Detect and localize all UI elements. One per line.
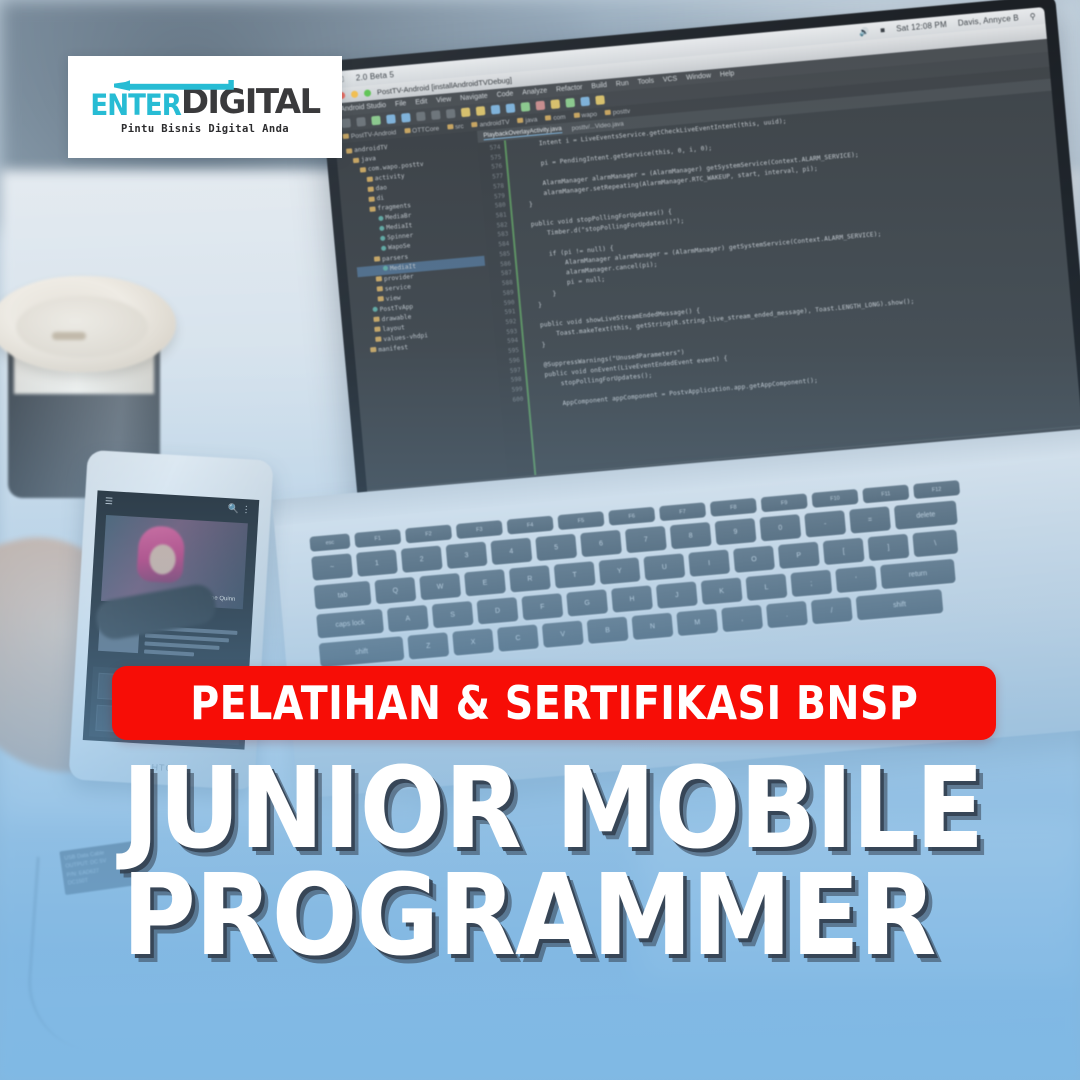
promo-banner-text: PELATIHAN & SERTIFIKASI BNSP bbox=[190, 676, 918, 730]
enter-arrow-icon bbox=[114, 79, 238, 92]
logo-enter-text: ENTER bbox=[90, 92, 180, 119]
headline-line-2: PROGRAMMER bbox=[122, 863, 932, 970]
logo-wordmark: ENTER DIGITAL bbox=[90, 79, 319, 118]
headline-block: JUNIOR MOBILE PROGRAMMER bbox=[122, 756, 1022, 970]
brand-logo: ENTER DIGITAL Pintu Bisnis Digital Anda bbox=[68, 56, 342, 158]
poster-canvas:  2.0 Beta 5 🔊 ■ Sat 12:08 PM Davis, Ann… bbox=[0, 0, 1080, 1080]
promo-banner: PELATIHAN & SERTIFIKASI BNSP bbox=[112, 666, 996, 740]
logo-tagline: Pintu Bisnis Digital Anda bbox=[121, 123, 289, 135]
headline-line-1: JUNIOR MOBILE bbox=[122, 756, 932, 863]
